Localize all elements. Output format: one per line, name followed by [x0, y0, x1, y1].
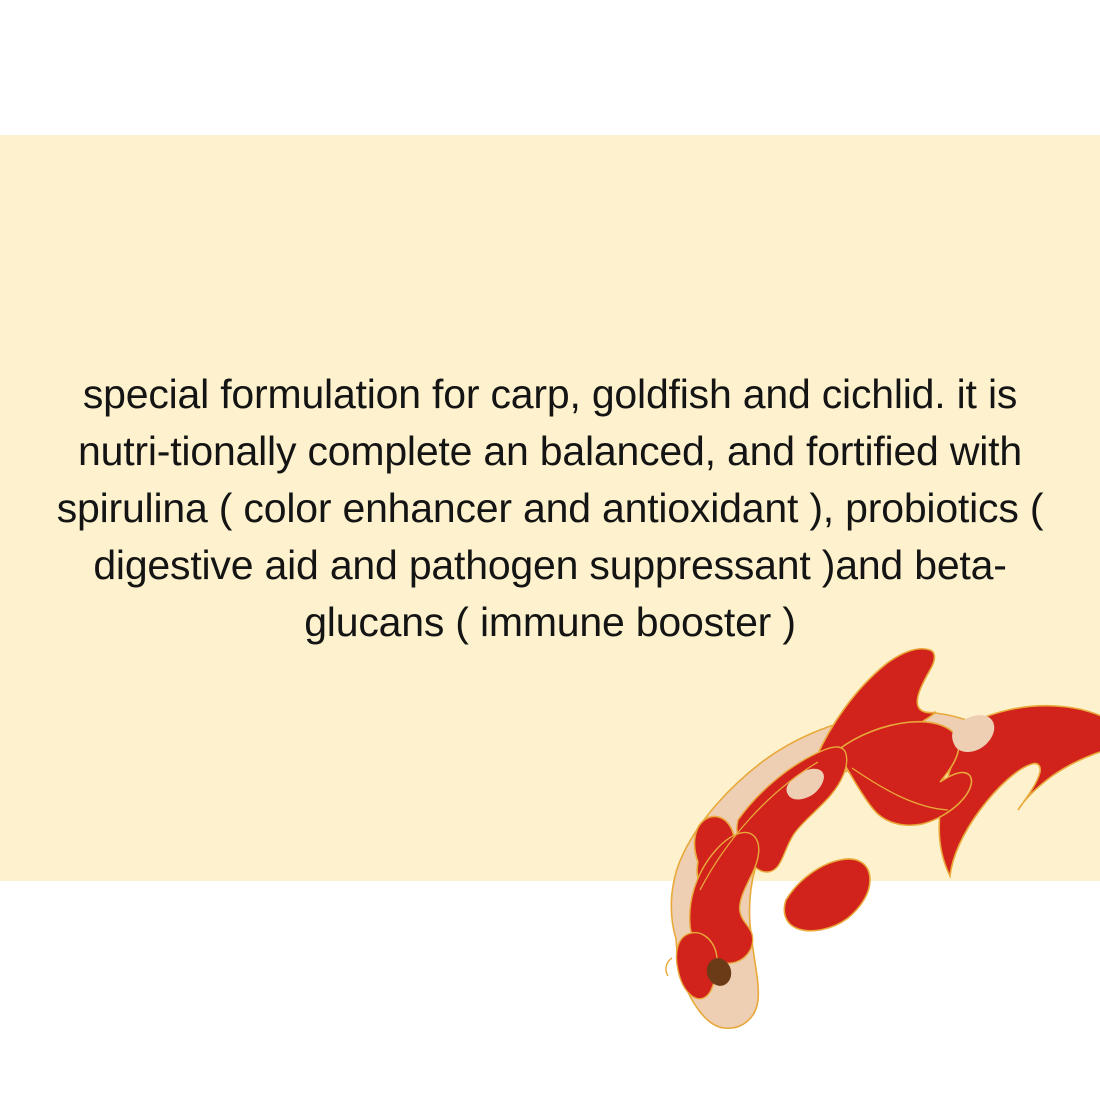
product-description-text: special formulation for carp, goldfish a… [0, 366, 1100, 651]
slide-canvas: special formulation for carp, goldfish a… [0, 0, 1100, 1100]
fish-eye [703, 955, 734, 989]
fish-head-patch [676, 933, 717, 999]
fish-gill-line [666, 958, 672, 976]
